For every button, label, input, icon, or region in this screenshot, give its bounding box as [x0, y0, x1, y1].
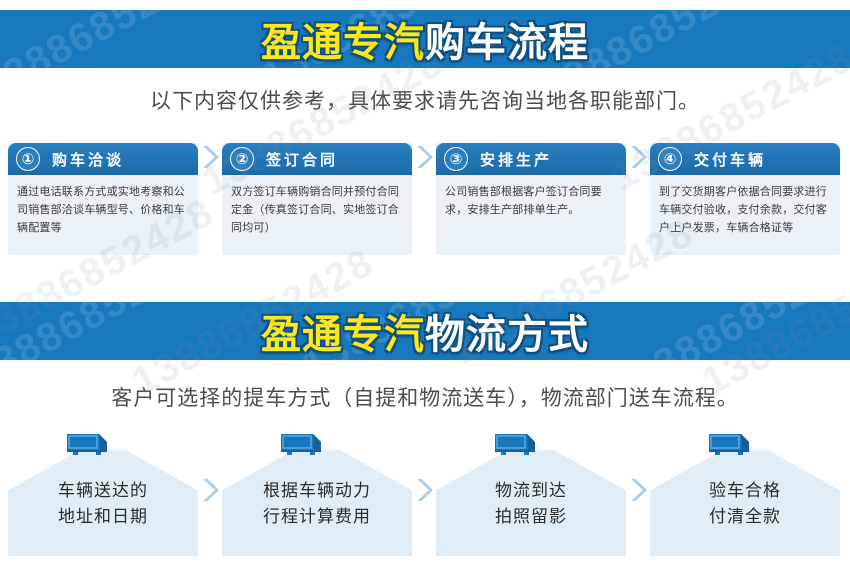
step-number-badge: ④: [658, 147, 682, 171]
logistics-card-2[interactable]: 根据车辆动力 行程计算费用: [222, 432, 412, 556]
purchase-flow-banner-title: 盈通专汽购车流程: [261, 10, 589, 68]
banner-rest-text: 物流方式: [425, 313, 589, 357]
step-title: 签订合同: [266, 149, 338, 170]
step-body: 到了交货期客户依据合同要求进行车辆交付验收，支付余款，交付客户上户发票，车辆合格…: [650, 175, 840, 237]
purchase-flow-subtitle: 以下内容仅供参考，具体要求请先咨询当地各职能部门。: [0, 85, 850, 115]
step-body: 通过电话联系方式或实地考察和公司销售部洽谈车辆型号、价格和车辆配置等: [8, 175, 198, 237]
logistics-subtitle: 客户可选择的提车方式（自提和物流送车），物流部门送车流程。: [0, 382, 850, 412]
step-card-4-header: ④ 交付车辆: [650, 143, 840, 175]
step-card-3[interactable]: ③ 安排生产 公司销售部根据客户签订合同要求，安排生产部排单生产。: [436, 143, 626, 255]
truck-icon: [66, 432, 112, 456]
logistics-card-4[interactable]: 验车合格 付清全款: [650, 432, 840, 556]
chevron-right-icon: [626, 143, 650, 171]
step-card-2-header: ② 签订合同: [222, 143, 412, 175]
page-root: 13886852428 13886852428 13886852428 盈通专汽…: [0, 0, 850, 564]
logistics-banner-title: 盈通专汽物流方式: [261, 302, 589, 360]
chevron-right-icon: [412, 143, 436, 171]
chevron-right-icon: [412, 432, 436, 556]
banner-rest-text: 购车流程: [425, 21, 589, 65]
logistics-card-1[interactable]: 车辆送达的 地址和日期: [8, 432, 198, 556]
watermark-text: 13886852428: [0, 10, 232, 68]
step-title: 购车洽谈: [52, 149, 124, 170]
chevron-right-icon: [198, 432, 222, 556]
logistics-text-line2: 行程计算费用: [222, 504, 412, 530]
logistics-card-3-text: 物流到达 拍照留影: [436, 478, 626, 531]
banner-brand-text: 盈通专汽: [261, 313, 425, 357]
step-body: 公司销售部根据客户签订合同要求，安排生产部排单生产。: [436, 175, 626, 219]
step-card-1[interactable]: ① 购车洽谈 通过电话联系方式或实地考察和公司销售部洽谈车辆型号、价格和车辆配置…: [8, 143, 198, 255]
step-title: 交付车辆: [694, 149, 766, 170]
logistics-card-2-text: 根据车辆动力 行程计算费用: [222, 478, 412, 531]
step-body: 双方签订车辆购销合同并预付合同定金（传真签订合同、实地签订合同均可）: [222, 175, 412, 237]
chevron-right-icon: [198, 143, 222, 171]
logistics-card-4-text: 验车合格 付清全款: [650, 478, 840, 531]
truck-icon: [708, 432, 754, 456]
logistics-steps-row: 车辆送达的 地址和日期 根据车辆动力 行程计算费用: [8, 432, 842, 556]
truck-icon: [280, 432, 326, 456]
truck-icon: [494, 432, 540, 456]
step-number-badge: ③: [444, 147, 468, 171]
step-card-3-header: ③ 安排生产: [436, 143, 626, 175]
logistics-card-1-text: 车辆送达的 地址和日期: [8, 478, 198, 531]
logistics-text-line1: 验车合格: [650, 478, 840, 504]
step-title: 安排生产: [480, 149, 552, 170]
purchase-steps-row: ① 购车洽谈 通过电话联系方式或实地考察和公司销售部洽谈车辆型号、价格和车辆配置…: [8, 143, 842, 258]
step-number-badge: ①: [16, 147, 40, 171]
chevron-right-icon: [626, 432, 650, 556]
logistics-text-line2: 地址和日期: [8, 504, 198, 530]
step-card-1-header: ① 购车洽谈: [8, 143, 198, 175]
step-number-badge: ②: [230, 147, 254, 171]
logistics-text-line2: 付清全款: [650, 504, 840, 530]
watermark-text: 13886852428: [0, 302, 222, 360]
logistics-text-line1: 车辆送达的: [8, 478, 198, 504]
logistics-text-line1: 根据车辆动力: [222, 478, 412, 504]
banner-brand-text: 盈通专汽: [261, 21, 425, 65]
logistics-banner: 13886852428 13886852428 13886852428 盈通专汽…: [0, 300, 850, 362]
logistics-text-line1: 物流到达: [436, 478, 626, 504]
logistics-text-line2: 拍照留影: [436, 504, 626, 530]
step-card-2[interactable]: ② 签订合同 双方签订车辆购销合同并预付合同定金（传真签订合同、实地签订合同均可…: [222, 143, 412, 255]
logistics-card-3[interactable]: 物流到达 拍照留影: [436, 432, 626, 556]
purchase-flow-banner: 13886852428 13886852428 13886852428 盈通专汽…: [0, 8, 850, 70]
step-card-4[interactable]: ④ 交付车辆 到了交货期客户依据合同要求进行车辆交付验收，支付余款，交付客户上户…: [650, 143, 840, 255]
watermark-text: 13886852428: [625, 302, 850, 360]
